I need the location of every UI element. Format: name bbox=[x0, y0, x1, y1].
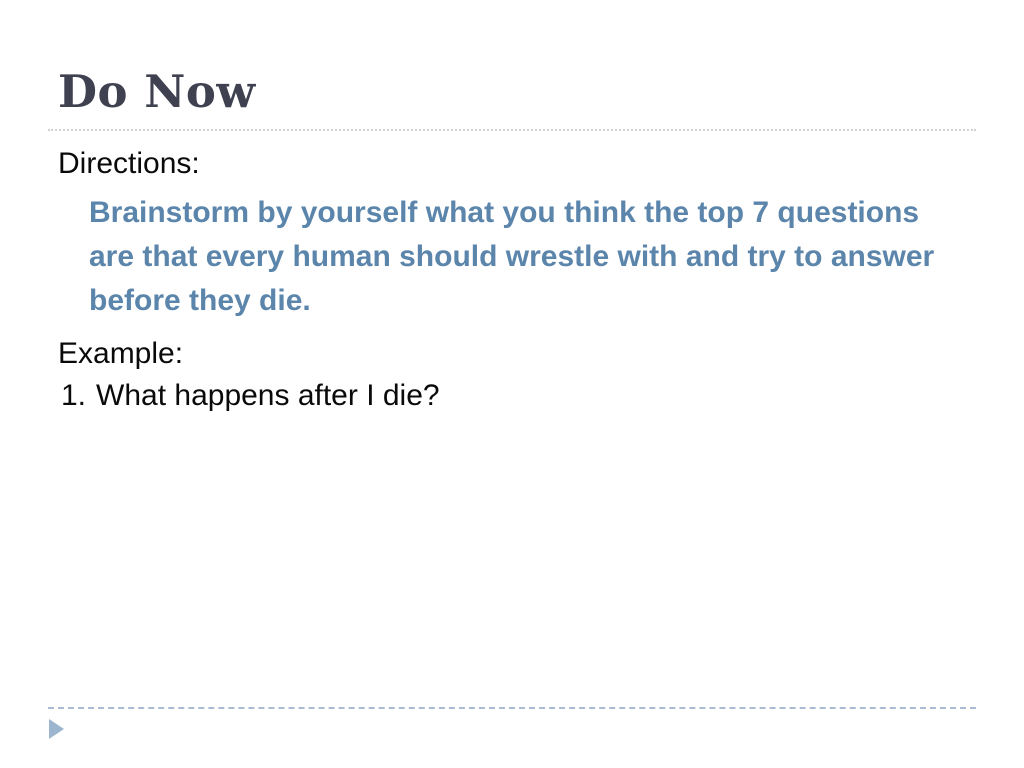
body-spacer bbox=[58, 325, 978, 333]
list-item-number: 1. bbox=[61, 379, 86, 412]
slide-body: Directions: Brainstorm by yourself what … bbox=[58, 143, 978, 417]
play-triangle-icon bbox=[49, 719, 64, 739]
example-label: Example: bbox=[58, 333, 978, 375]
slide-canvas: Do Now Directions: Brainstorm by yoursel… bbox=[0, 0, 1024, 768]
directions-text: Brainstorm by yourself what you think th… bbox=[58, 191, 949, 323]
footer-divider bbox=[48, 707, 976, 709]
title-divider bbox=[48, 129, 976, 131]
list-item: 1.What happens after I die? bbox=[58, 375, 978, 417]
page-title: Do Now bbox=[58, 66, 256, 118]
list-item-text: What happens after I die? bbox=[96, 379, 440, 412]
directions-label: Directions: bbox=[58, 143, 978, 185]
